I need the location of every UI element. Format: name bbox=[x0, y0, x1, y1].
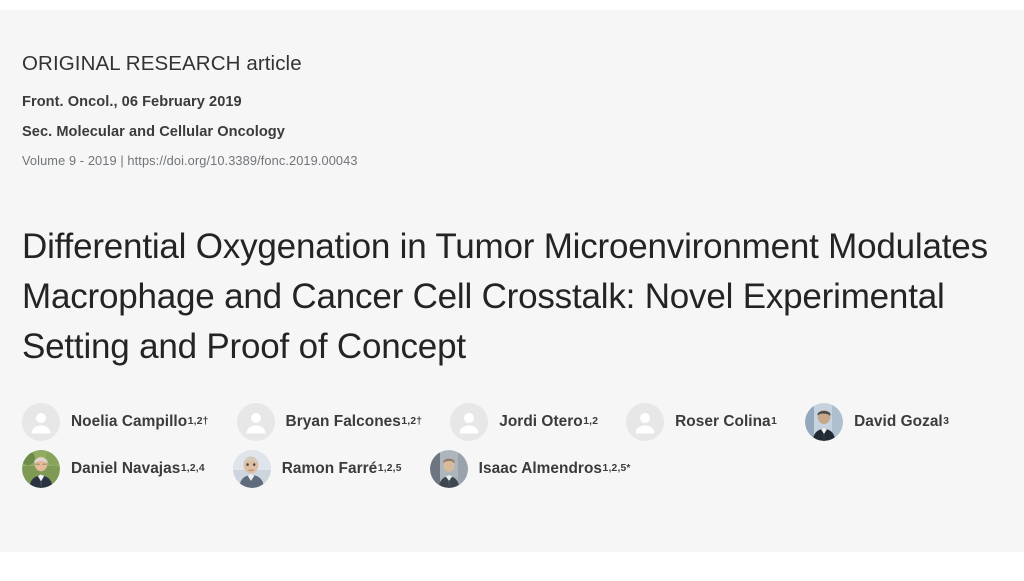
author-name: Bryan Falcones bbox=[286, 413, 401, 431]
article-title: Differential Oxygenation in Tumor Microe… bbox=[22, 170, 1002, 373]
author-list: Noelia Campillo1,2† Bryan Falcones1,2† bbox=[22, 373, 1002, 488]
article-metadata: ORIGINAL RESEARCH article Front. Oncol.,… bbox=[22, 10, 1002, 170]
person-placeholder-icon bbox=[626, 403, 664, 441]
article-header-page: ORIGINAL RESEARCH article Front. Oncol.,… bbox=[0, 0, 1024, 581]
author-entry[interactable]: Roser Colina1 bbox=[626, 403, 777, 441]
author-entry[interactable]: David Gozal3 bbox=[805, 403, 949, 441]
author-photo-icon bbox=[22, 450, 60, 488]
author-name: Jordi Otero bbox=[499, 413, 583, 431]
article-panel: ORIGINAL RESEARCH article Front. Oncol.,… bbox=[0, 10, 1024, 552]
author-entry[interactable]: Jordi Otero1,2 bbox=[450, 403, 598, 441]
author-entry[interactable]: Bryan Falcones1,2† bbox=[237, 403, 423, 441]
author-entry[interactable]: Ramon Farré1,2,5 bbox=[233, 450, 402, 488]
author-name: Roser Colina bbox=[675, 413, 771, 431]
journal-section-line: Sec. Molecular and Cellular Oncology bbox=[22, 123, 1002, 141]
author-photo-icon bbox=[430, 450, 468, 488]
article-type: ORIGINAL RESEARCH article bbox=[22, 52, 1002, 77]
article-type-suffix: article bbox=[246, 52, 301, 75]
author-photo-icon bbox=[805, 403, 843, 441]
person-placeholder-icon bbox=[450, 403, 488, 441]
author-row: Daniel Navajas1,2,4 bbox=[22, 450, 1002, 488]
author-entry[interactable]: Isaac Almendros1,2,5* bbox=[430, 450, 631, 488]
author-name: Isaac Almendros bbox=[479, 460, 602, 478]
author-entry[interactable]: Daniel Navajas1,2,4 bbox=[22, 450, 205, 488]
volume-doi-line[interactable]: Volume 9 - 2019 | https://doi.org/10.338… bbox=[22, 153, 1002, 170]
article-type-label: ORIGINAL RESEARCH bbox=[22, 52, 241, 75]
author-row: Noelia Campillo1,2† Bryan Falcones1,2† bbox=[22, 403, 1002, 441]
author-name: David Gozal bbox=[854, 413, 943, 431]
author-name: Daniel Navajas bbox=[71, 460, 180, 478]
person-placeholder-icon bbox=[237, 403, 275, 441]
author-photo-icon bbox=[233, 450, 271, 488]
author-name: Ramon Farré bbox=[282, 460, 378, 478]
journal-publication-line: Front. Oncol., 06 February 2019 bbox=[22, 93, 1002, 111]
person-placeholder-icon bbox=[22, 403, 60, 441]
author-entry[interactable]: Noelia Campillo1,2† bbox=[22, 403, 209, 441]
author-name: Noelia Campillo bbox=[71, 413, 187, 431]
